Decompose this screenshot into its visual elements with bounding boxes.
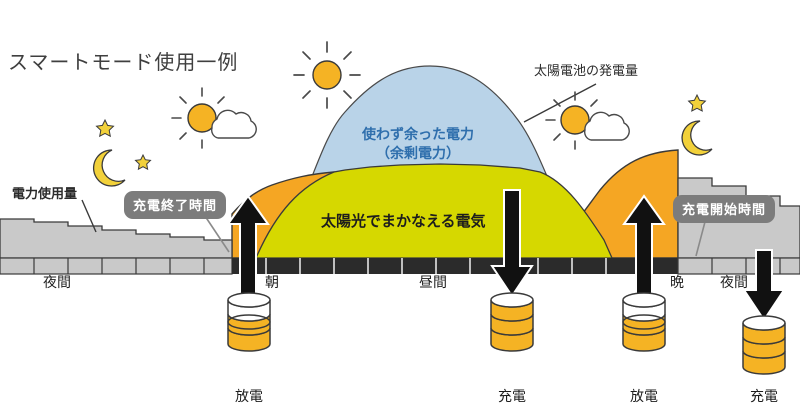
surplus-power-label: 使わず余った電力 （余剰電力） — [362, 125, 474, 163]
battery-2 — [491, 293, 533, 351]
moon-icon-right — [682, 121, 712, 155]
surplus-power-label-line1: 使わず余った電力 — [362, 125, 474, 144]
axis-segment-day — [232, 258, 678, 274]
axis-label-day: 昼間 — [419, 272, 447, 292]
axis-segment-night-left — [0, 258, 232, 274]
sun-behind-cloud-icon-right — [546, 92, 629, 149]
night-usage-area-left — [0, 219, 232, 258]
sun-behind-cloud-icon-left — [172, 88, 256, 148]
star-icon-right — [689, 95, 706, 111]
solar-supply-label: 太陽光でまかなえる電気 — [321, 210, 486, 231]
diagram-canvas: スマートモード使用一例 電力使用量 太陽電池の発電量 使わず余った電力 （余剰電… — [0, 0, 800, 412]
battery-1 — [228, 293, 270, 351]
axis-label-night-2: 夜間 — [720, 272, 748, 292]
charge-end-time-badge: 充電終了時間 — [124, 191, 226, 219]
battery-4-label: 充電 — [729, 386, 799, 406]
battery-3 — [623, 293, 665, 351]
star-icon-left-upper — [96, 120, 113, 136]
battery-4 — [743, 316, 785, 374]
page-title: スマートモード使用一例 — [8, 46, 238, 75]
pv-generation-label: 太陽電池の発電量 — [534, 60, 638, 79]
surplus-power-label-line2: （余剰電力） — [362, 144, 474, 163]
axis-label-evening: 晩 — [670, 272, 684, 292]
battery-3-label: 放電 — [609, 386, 679, 406]
battery-2-label: 充電 — [477, 386, 547, 406]
moon-icon-left — [94, 150, 125, 186]
axis-label-morning: 朝 — [265, 272, 279, 292]
axis-label-night-1: 夜間 — [43, 272, 71, 292]
star-icon-left-lower — [135, 155, 150, 169]
sun-icon-top — [294, 42, 360, 108]
battery-1-label: 放電 — [214, 386, 284, 406]
charge-start-time-badge: 充電開始時間 — [673, 195, 775, 223]
usage-label: 電力使用量 — [12, 183, 77, 202]
